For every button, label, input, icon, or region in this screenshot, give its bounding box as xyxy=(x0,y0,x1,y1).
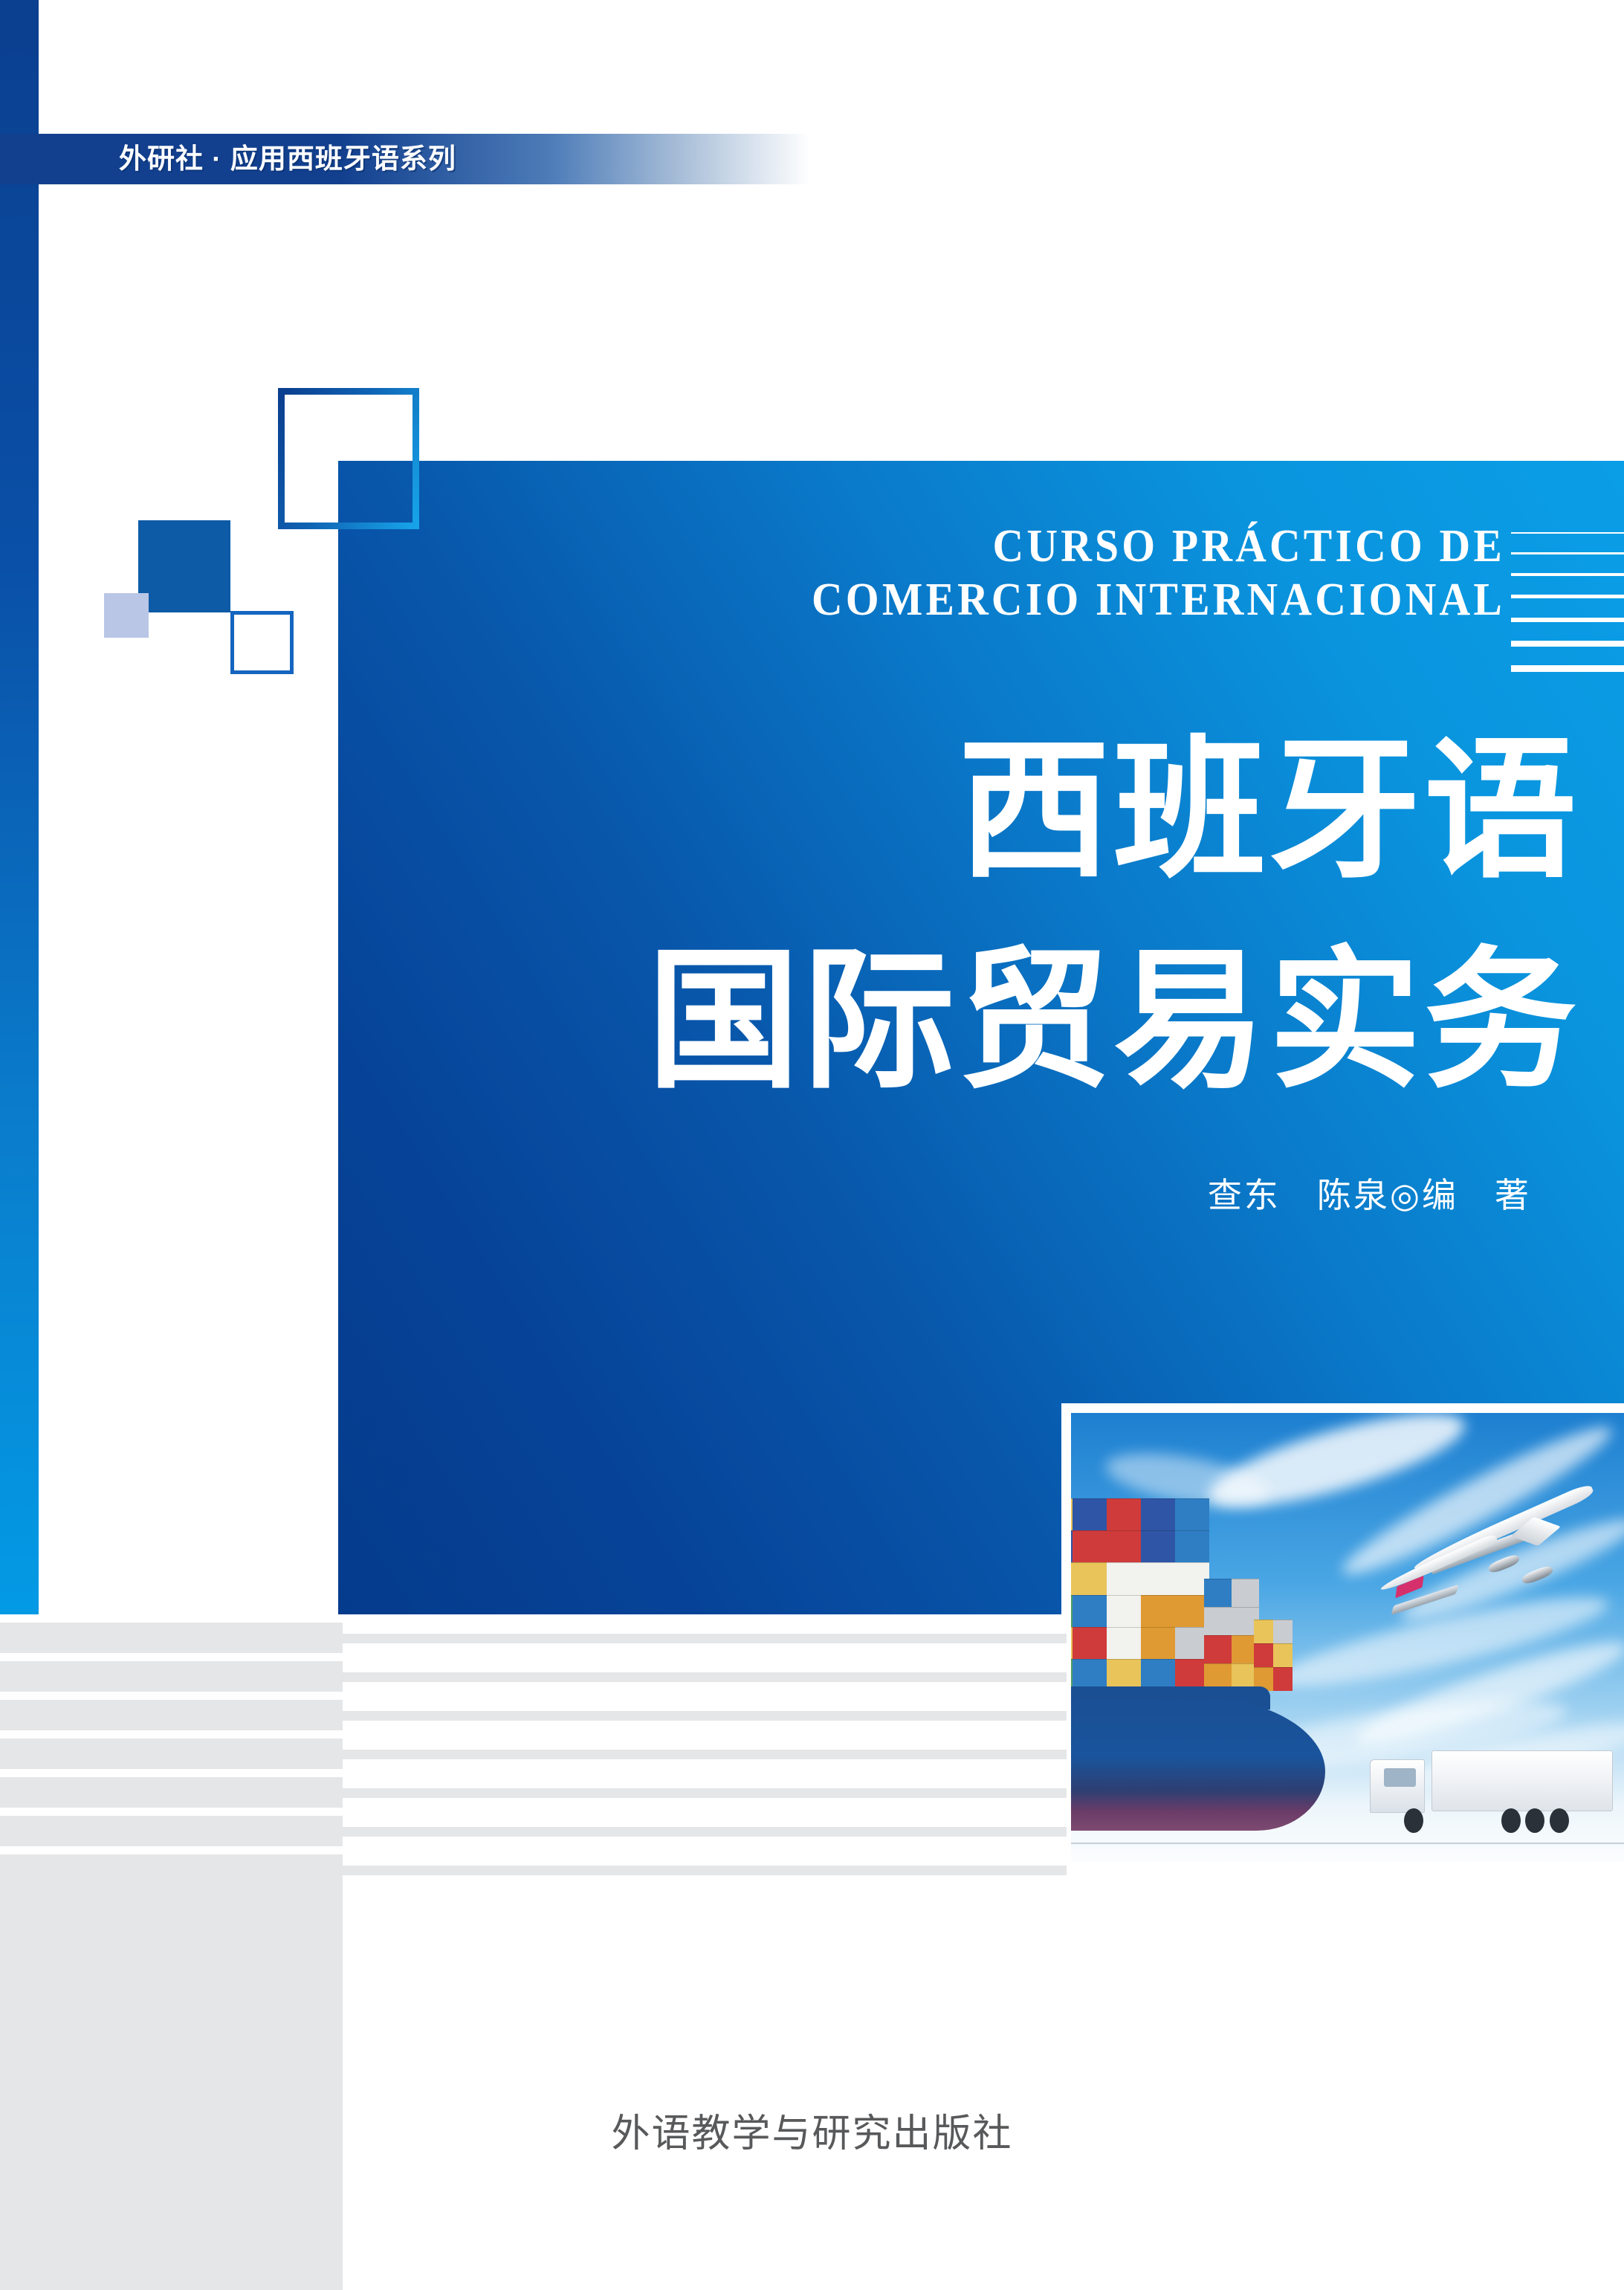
decorative-square-outline-small xyxy=(230,611,294,674)
stripe-gap xyxy=(0,1692,343,1700)
decorative-line xyxy=(1511,573,1624,576)
truck-wheel xyxy=(1501,1808,1521,1834)
spanish-title-line-2: COMERCIO INTERNACIONAL xyxy=(420,574,1505,627)
truck-window xyxy=(1384,1768,1416,1786)
container-stack-far xyxy=(1254,1620,1293,1692)
chinese-title-line-1: 西班牙语 xyxy=(338,706,1579,916)
decorative-line xyxy=(1511,665,1624,672)
logistics-photo xyxy=(1071,1413,1624,1862)
stripe-gap xyxy=(0,1730,343,1738)
truck-wheel xyxy=(1525,1808,1544,1834)
decorative-line xyxy=(1511,552,1624,554)
container-stack-side xyxy=(1204,1579,1259,1691)
decorative-square-solid xyxy=(138,520,230,612)
truck-wheel xyxy=(1550,1808,1569,1834)
stripe-gap xyxy=(0,1769,343,1777)
decorative-line xyxy=(1511,618,1624,622)
stripe-line xyxy=(343,1711,1067,1721)
airplane-engine xyxy=(1487,1553,1521,1574)
spanish-title: CURSO PRÁCTICO DE COMERCIO INTERNACIONAL xyxy=(420,520,1505,627)
decorative-line xyxy=(1511,595,1624,598)
decorative-square-lavender xyxy=(104,593,149,638)
airplane-fuselage-second xyxy=(1379,1533,1498,1594)
airplane-engine xyxy=(1521,1565,1554,1586)
stripe-line xyxy=(343,1788,1067,1798)
stripe-line xyxy=(343,1827,1067,1837)
cover-photo-frame xyxy=(1061,1403,1624,1862)
chinese-title: 西班牙语 国际贸易实务 xyxy=(338,706,1579,1127)
decorative-line-stack xyxy=(1511,532,1624,672)
stripe-line xyxy=(343,1672,1067,1682)
spanish-title-line-1: CURSO PRÁCTICO DE xyxy=(420,520,1505,574)
truck-trailer xyxy=(1431,1750,1613,1811)
book-cover: 外研社 · 应用西班牙语系列 CURSO PRÁCTICO DE COMERCI… xyxy=(0,0,1624,2290)
stripe-line xyxy=(343,1866,1067,1875)
bottom-stripes-left xyxy=(0,1614,343,2290)
ship-hull xyxy=(1071,1696,1325,1831)
ground-line xyxy=(1071,1843,1624,1844)
decorative-line xyxy=(1511,532,1624,534)
stripe-gap xyxy=(0,1808,343,1816)
stripe-line xyxy=(343,1750,1067,1759)
truck-icon xyxy=(1370,1745,1613,1835)
author-credit-line: 查东 陈泉◎编 著 xyxy=(338,1168,1531,1217)
stripe-gap xyxy=(0,1653,343,1661)
stripe-line xyxy=(343,1634,1067,1643)
truck-wheel xyxy=(1404,1808,1423,1834)
decorative-line xyxy=(1511,641,1624,647)
bottom-stripes-middle xyxy=(343,1614,1067,2290)
chinese-title-line-2: 国际贸易实务 xyxy=(338,916,1579,1127)
left-spine-stripe xyxy=(0,0,39,1614)
publisher-name: 外语教学与研究出版社 xyxy=(0,2102,1624,2158)
series-banner-label: 外研社 · 应用西班牙语系列 xyxy=(119,135,456,183)
container-stack-main xyxy=(1071,1498,1209,1692)
stripe-gap xyxy=(0,1846,343,1854)
stripe-gap xyxy=(0,1614,343,1623)
airplane-icon xyxy=(1381,1512,1624,1628)
